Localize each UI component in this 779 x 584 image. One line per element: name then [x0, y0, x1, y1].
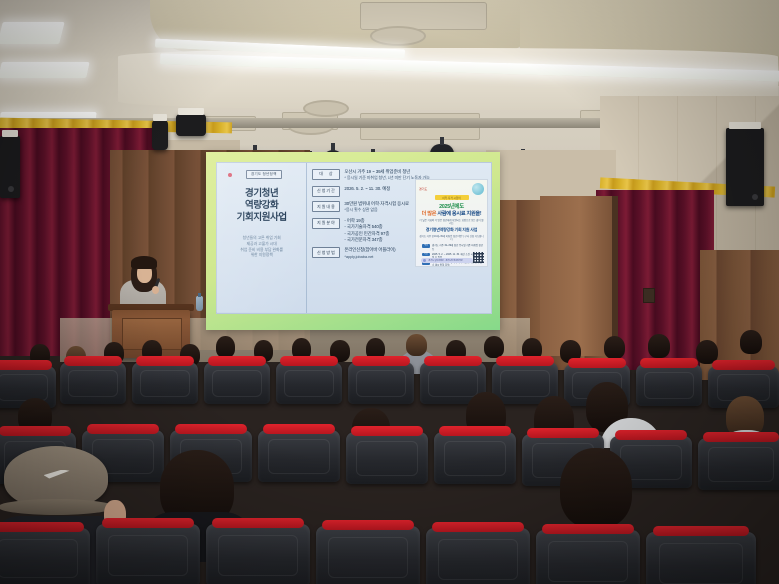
auditorium-seat[interactable]: [204, 362, 270, 404]
presenter-hand: [152, 286, 159, 294]
auditorium-seat[interactable]: [346, 432, 428, 484]
row-label-period: 신청기간: [312, 186, 340, 197]
poster-headline-em: 더 많은: [422, 211, 438, 217]
audience-head: [648, 334, 670, 358]
row-text-period: 2026. 5. 2. ~ 11. 30. 예정: [344, 186, 390, 192]
gyeonggi-logo: 경기도: [419, 187, 427, 191]
slide-left-panel: 경기도 청년정책 경기청년 역량강화 기회지원사업 청년들의 고른 취업 기회 …: [217, 163, 307, 313]
auditorium-seat[interactable]: [0, 528, 90, 584]
row-value: 온라인신청(잡아바 어플라이): [344, 247, 395, 252]
auditorium-seat[interactable]: [276, 362, 342, 404]
field-item: - 국가기술자격 540종: [344, 224, 389, 230]
slide-subtitle: 청년들의 고른 취업 기회 제공과 고물가 시대 취업 준비 비용 부담 완화를…: [240, 236, 283, 258]
poster-thumbnail: 경기도 어학·자격 시험비 2025년에도 더 많은 사람에 응시료 지원을! …: [415, 179, 488, 267]
cap-brim: [0, 499, 114, 515]
auditorium-seat[interactable]: [426, 528, 530, 584]
poster-small-text: 더 넓은 기회와 더 많은 청년에게 지원되는 희망으로 모든 길이 열리는: [419, 219, 484, 226]
qr-code-icon[interactable]: [473, 252, 484, 263]
row-label-content: 지원내용: [312, 201, 340, 212]
poster-ribbon: 어학·자격 시험비: [435, 195, 469, 200]
wall-speaker-right: [726, 128, 764, 206]
row-text-content: 30만원 범위내 어학·자격시험 응시료 *응시 횟수 상관 없음: [344, 201, 409, 213]
presentation-slide: 경기도 청년정책 경기청년 역량강화 기회지원사업 청년들의 고른 취업 기회 …: [216, 162, 492, 314]
slide-sub-4: 위한 지원정책: [240, 253, 283, 259]
auditorium-seat[interactable]: [206, 524, 310, 584]
slide-title-line2: 역량강화: [237, 200, 287, 212]
footer-text: 경기도 일자리재단 · 경기도청 청년정책관: [428, 259, 462, 262]
audience-head-foreground: [560, 448, 632, 528]
poster-list-item: 대상 경기도 거주 19~39세 청년 응시일 기준 미취업 청년 등: [422, 244, 484, 250]
slide-title-line1: 경기청년: [237, 188, 287, 200]
auditorium-photo: 경기도 청년정책 경기청년 역량강화 기회지원사업 청년들의 고른 취업 기회 …: [0, 0, 779, 584]
hanging-speaker: [152, 120, 168, 150]
auditorium-seat[interactable]: [60, 362, 126, 404]
auditorium-seat[interactable]: [698, 438, 779, 490]
poster-program-title: 경기청년역량강화 기회 지원 사업: [419, 227, 484, 233]
poster-logos: 경기도: [419, 183, 484, 194]
wall-speaker-left: [0, 136, 20, 198]
ceiling-light: [0, 22, 65, 44]
auditorium-seat[interactable]: [536, 530, 640, 584]
poster-subnote: 경기도 거주 만19세~39세 미취업 청년이면 누구나 신청 가능합니다: [419, 235, 484, 242]
auditorium-seat[interactable]: [132, 362, 198, 404]
nike-swoosh-icon: [44, 470, 70, 479]
row-text-apply: 온라인신청(잡아바 어플라이) *apply.jobaba.net: [344, 247, 395, 259]
ceiling-downlight-1: [303, 100, 349, 117]
ceiling-light: [0, 62, 90, 78]
poster-badge: 대상: [422, 244, 430, 247]
projection-screen: 경기도 청년정책 경기청년 역량강화 기회지원사업 청년들의 고른 취업 기회 …: [206, 152, 500, 330]
row-label-apply: 신청방법: [312, 247, 340, 258]
hanging-speaker-2: [176, 114, 206, 136]
row-label-target: 대 상: [312, 169, 340, 180]
poster-badge: 기간: [422, 253, 430, 256]
wall-switch-plate[interactable]: [643, 288, 655, 303]
poster-footer: 경기도 일자리재단 · 경기도청 청년정책관: [421, 258, 473, 263]
audience-head: [484, 336, 504, 358]
jobaba-logo: [472, 183, 484, 195]
row-value: 30만원 범위내 어학·자격시험 응시료: [344, 201, 409, 206]
poster-headline-blue: 더 많은 사람에 응시료 지원을!: [419, 210, 484, 217]
auditorium-seat[interactable]: [96, 524, 200, 584]
row-value: 오산시 거주 19 ~ 39세 취업준비 청년: [344, 169, 410, 174]
row-label-fields: 지원분야: [312, 218, 340, 229]
field-item: - 국가전문자격 347종: [344, 237, 389, 243]
apply-url: *apply.jobaba.net: [344, 254, 373, 259]
row-text-fields: - 어학 19종 - 국가기술자격 540종 - 국가공인 민간자격 97종 -…: [344, 218, 389, 243]
presenter-hair-front: [131, 256, 157, 269]
audience-head: [740, 330, 762, 354]
auditorium-seat[interactable]: [316, 526, 420, 584]
audience-head: [604, 336, 625, 359]
poster-headline-rest: 사람에 응시료 지원을!: [437, 211, 481, 217]
nike-baseball-cap: [4, 446, 108, 508]
side-door[interactable]: [540, 196, 612, 356]
auditorium-seat[interactable]: [636, 364, 702, 406]
ceiling-vent: [360, 2, 487, 30]
pin-icon: [228, 173, 232, 177]
footer-dot-icon: [423, 259, 426, 262]
poster-headline-green: 2025년에도: [419, 202, 484, 210]
auditorium-seat[interactable]: [646, 532, 756, 584]
auditorium-seat[interactable]: [348, 362, 414, 404]
row-note: *응시 횟수 상관 없음: [344, 207, 377, 212]
field-item: - 국가공인 민간자격 97종: [344, 231, 389, 237]
policy-tag: 경기도 청년정책: [246, 170, 282, 179]
slide-title-line3: 기회지원사업: [237, 212, 287, 224]
slide-right-panel: 대 상 오산시 거주 19 ~ 39세 취업준비 청년 * 응시일 기준 미취업…: [307, 163, 491, 313]
slide-sub-2: 제공과 고물가 시대: [240, 242, 283, 248]
slide-title: 경기청년 역량강화 기회지원사업: [237, 188, 287, 224]
audience-head: [216, 336, 235, 358]
ceiling-speaker-grille: [370, 26, 426, 46]
audience-head: [406, 334, 427, 356]
auditorium-seat[interactable]: [258, 430, 340, 482]
auditorium-seat[interactable]: [434, 432, 516, 484]
poster-item-text: 경기도 거주 19~39세 청년 응시일 기준 미취업 청년 등: [432, 244, 484, 250]
